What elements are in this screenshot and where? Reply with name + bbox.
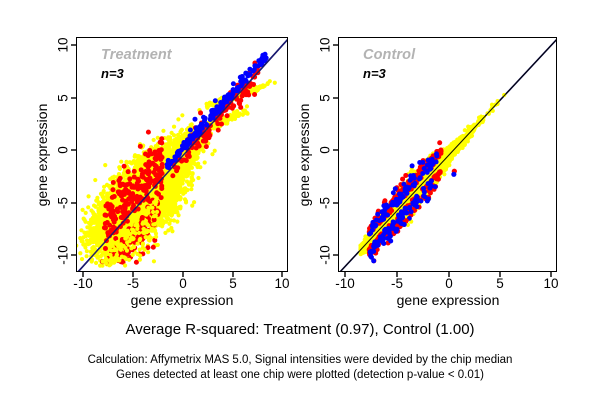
ytick-control-0: -10 bbox=[318, 245, 333, 265]
xtick-control-2: 0 bbox=[445, 276, 453, 291]
xtick-treatment-0: -10 bbox=[73, 276, 93, 291]
ytick-treatment-1: -5 bbox=[56, 197, 71, 209]
caption-method-line1: Calculation: Affymetrix MAS 5.0, Signal … bbox=[88, 354, 513, 366]
xtick-control-3: 5 bbox=[496, 276, 504, 291]
xtick-treatment-4: 10 bbox=[274, 276, 289, 291]
xaxis-title-control: gene expression bbox=[397, 292, 500, 308]
ytick-control-4: 10 bbox=[318, 37, 333, 52]
figure-canvas: Treatment n=3 -10 -5 0 5 10 -10 -5 0 5 1… bbox=[0, 0, 600, 400]
panel-title-control: Control bbox=[363, 47, 415, 63]
ytick-treatment-3: 5 bbox=[56, 94, 71, 102]
xaxis-title-treatment: gene expression bbox=[131, 292, 234, 308]
ytick-treatment-4: 10 bbox=[56, 37, 71, 52]
yaxis-title-treatment: gene expression bbox=[34, 104, 50, 207]
xtick-treatment-2: 0 bbox=[179, 276, 187, 291]
xtick-treatment-1: -5 bbox=[127, 276, 139, 291]
xtick-control-4: 10 bbox=[543, 276, 558, 291]
yaxis-title-control: gene expression bbox=[296, 104, 312, 207]
panel-n-control: n=3 bbox=[363, 66, 386, 81]
panel-n-treatment: n=3 bbox=[101, 66, 124, 81]
ytick-treatment-0: -10 bbox=[56, 245, 71, 265]
xtick-control-1: -5 bbox=[391, 276, 403, 291]
xtick-control-0: -10 bbox=[335, 276, 355, 291]
ytick-control-2: 0 bbox=[318, 146, 333, 154]
ytick-control-1: -5 bbox=[318, 197, 333, 209]
xtick-treatment-3: 5 bbox=[229, 276, 237, 291]
caption-method-line2: Genes detected at least one chip were pl… bbox=[116, 369, 484, 381]
panel-title-treatment: Treatment bbox=[101, 47, 172, 63]
ytick-control-3: 5 bbox=[318, 94, 333, 102]
ytick-treatment-2: 0 bbox=[56, 146, 71, 154]
caption-rsquared: Average R-squared: Treatment (0.97), Con… bbox=[125, 321, 474, 338]
